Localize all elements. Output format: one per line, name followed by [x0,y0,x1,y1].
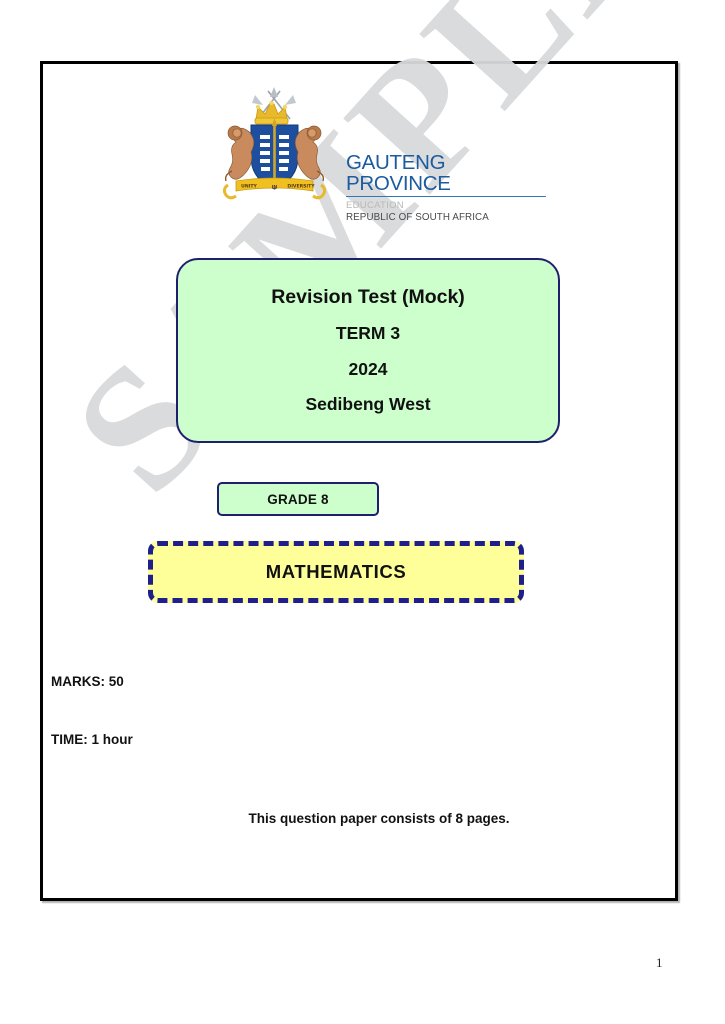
logo-wordmark: GAUTENG PROVINCE EDUCATION REPUBLIC OF S… [346,153,546,223]
letterhead-logo: UNITY IN DIVERSITY GAUTENG PROVINCE EDUC… [208,85,548,203]
exam-year: 2024 [349,361,388,379]
exam-term: TERM 3 [336,325,400,343]
logo-department-text: EDUCATION [346,200,546,211]
marks-label: MARKS: 50 [51,674,124,689]
exam-region: Sedibeng West [305,396,430,414]
grade-box: GRADE 8 [217,482,379,516]
svg-text:DIVERSITY: DIVERSITY [287,184,315,190]
time-label: TIME: 1 hour [51,732,133,747]
subject-label: MATHEMATICS [266,561,407,583]
svg-text:UNITY: UNITY [241,184,257,190]
svg-text:IN: IN [272,185,278,191]
exam-title-box: Revision Test (Mock) TERM 3 2024 Sediben… [176,258,560,443]
logo-province-text: GAUTENG PROVINCE [346,153,546,197]
gauteng-coat-of-arms-icon: UNITY IN DIVERSITY [208,85,340,203]
subject-box: MATHEMATICS [148,541,524,603]
page-content: UNITY IN DIVERSITY GAUTENG PROVINCE EDUC… [40,61,678,901]
exam-title: Revision Test (Mock) [271,288,465,308]
logo-country-text: REPUBLIC OF SOUTH AFRICA [346,212,546,223]
page-number: 1 [656,955,663,971]
page-count-note: This question paper consists of 8 pages. [40,811,678,826]
grade-label: GRADE 8 [267,492,328,507]
